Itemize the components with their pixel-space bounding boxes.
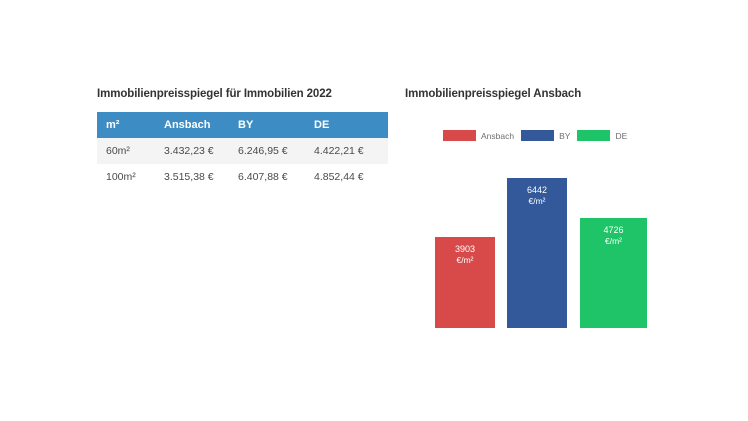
table-row: 60m² 3.432,23 € 6.246,95 € 4.422,21 € — [97, 138, 388, 164]
bar-value-label-ansbach: 3903 €/m² — [455, 244, 475, 328]
price-table-body: 60m² 3.432,23 € 6.246,95 € 4.422,21 € 10… — [97, 138, 388, 190]
cell-size: 60m² — [97, 138, 164, 164]
cell-size: 100m² — [97, 164, 164, 190]
price-table-head: m² Ansbach BY DE — [97, 112, 388, 138]
price-table-panel: Immobilienpreisspiegel für Immobilien 20… — [97, 88, 379, 190]
bar-unit-by: €/m² — [527, 196, 547, 207]
cell-ansbach: 3.515,38 € — [164, 164, 238, 190]
bar-value-ansbach: 3903 — [455, 244, 475, 254]
bar-value-by: 6442 — [527, 185, 547, 195]
cell-by: 6.407,88 € — [238, 164, 314, 190]
bar-value-label-de: 4726 €/m² — [603, 225, 623, 328]
bar-value-de: 4726 — [603, 225, 623, 235]
price-table-header-row: m² Ansbach BY DE — [97, 112, 388, 138]
column-header-ansbach: Ansbach — [164, 112, 238, 138]
cell-de: 4.422,21 € — [314, 138, 388, 164]
cell-ansbach: 3.432,23 € — [164, 138, 238, 164]
table-row: 100m² 3.515,38 € 6.407,88 € 4.852,44 € — [97, 164, 388, 190]
bar-chart-panel: Immobilienpreisspiegel Ansbach Ansbach B… — [405, 88, 665, 348]
bar-unit-de: €/m² — [603, 236, 623, 247]
bar-de: 4726 €/m² — [580, 218, 647, 328]
price-table-title: Immobilienpreisspiegel für Immobilien 20… — [97, 88, 379, 100]
column-header-de: DE — [314, 112, 388, 138]
price-table: m² Ansbach BY DE 60m² 3.432,23 € 6.246,9… — [97, 112, 388, 190]
column-header-by: BY — [238, 112, 314, 138]
cell-de: 4.852,44 € — [314, 164, 388, 190]
bar-value-label-by: 6442 €/m² — [527, 185, 547, 328]
cell-by: 6.246,95 € — [238, 138, 314, 164]
chart-plot-area: 3903 €/m² 6442 €/m² 4726 €/m² — [405, 88, 665, 348]
bar-unit-ansbach: €/m² — [455, 255, 475, 266]
bar-by: 6442 €/m² — [507, 178, 567, 328]
column-header-size: m² — [97, 112, 164, 138]
bar-ansbach: 3903 €/m² — [435, 237, 495, 328]
